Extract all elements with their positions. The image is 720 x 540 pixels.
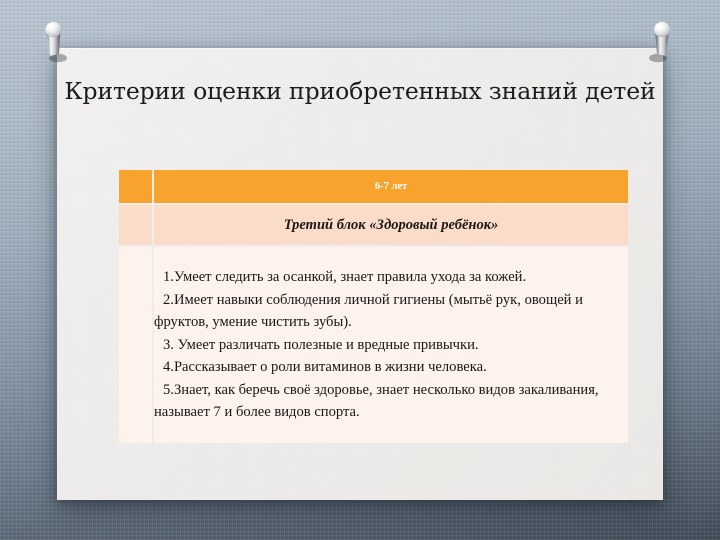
table-cell-age-range: 6-7 лет [154,170,628,203]
criteria-line: 3. Умеет различать полезные и вредные пр… [154,334,628,357]
table-cell-criteria-list: 1.Умеет следить за осанкой, знает правил… [154,247,628,443]
slide-canvas: Критерии оценки приобретенных знаний дет… [0,0,720,540]
criteria-table-wrapper: 6-7 лет Третий блок «Здоровый ребёнок» 1… [117,168,628,445]
criteria-table: 6-7 лет Третий блок «Здоровый ребёнок» 1… [117,168,630,445]
table-row-subheader: Третий блок «Здоровый ребёнок» [119,205,628,245]
criteria-line: 2.Имеет навыки соблюдения личной гигиены… [154,289,628,334]
table-row-header: 6-7 лет [119,170,628,203]
criteria-line: 1.Умеет следить за осанкой, знает правил… [154,266,628,289]
criteria-list: 1.Умеет следить за осанкой, знает правил… [154,266,628,424]
criteria-line: 4.Рассказывает о роли витаминов в жизни … [154,356,628,379]
slide-title: Критерии оценки приобретенных знаний дет… [57,76,663,107]
criteria-line: 5.Знает, как беречь своё здоровье, знает… [154,379,628,424]
table-row-body: 1.Умеет следить за осанкой, знает правил… [119,247,628,443]
table-cell-subheader-spacer [119,205,152,245]
table-cell-header-spacer [119,170,152,203]
table-cell-body-spacer [119,247,152,443]
table-cell-block-title: Третий блок «Здоровый ребёнок» [154,205,628,245]
